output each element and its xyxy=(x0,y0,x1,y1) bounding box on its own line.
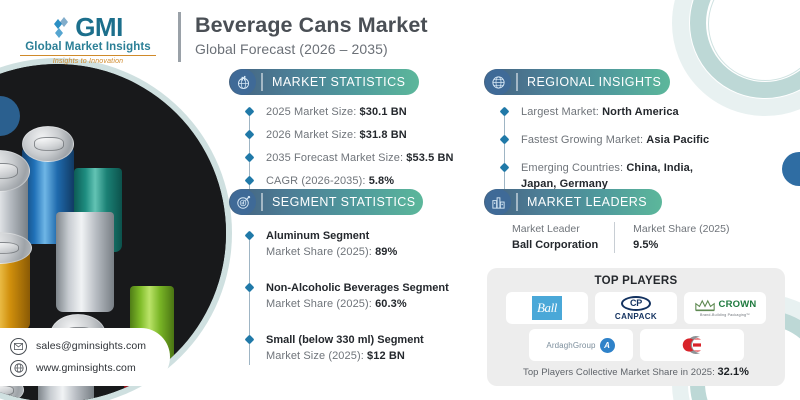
item-label: Market Share (2025): xyxy=(266,298,375,310)
banner-separator xyxy=(261,73,263,91)
ardagh-wordmark: ArdaghGroup xyxy=(546,341,595,350)
item-value: 60.3% xyxy=(375,298,407,310)
list-item: Largest Market: North America xyxy=(501,104,771,120)
logo-company: Global Market Insights xyxy=(8,41,168,53)
market-share-value: 9.5% xyxy=(633,237,729,253)
logo-tagline: Insights to Innovation xyxy=(8,58,168,65)
page-subtitle: Global Forecast (2026 – 2035) xyxy=(195,38,428,60)
top-players-row-1: Ball CP CANPACK CROWN Bra xyxy=(497,292,775,324)
ccl-logo-icon xyxy=(680,333,704,357)
page-title: Beverage Cans Market xyxy=(195,12,428,38)
contact-website-row[interactable]: www.gminsights.com xyxy=(10,360,170,377)
contact-website: www.gminsights.com xyxy=(36,362,136,374)
banner-label: MARKET LEADERS xyxy=(527,195,647,209)
list-segment-statistics: Aluminum Segment Market Share (2025): 89… xyxy=(246,228,486,371)
list-item: Emerging Countries: China, India, Japan,… xyxy=(501,160,771,192)
can-silver-mid xyxy=(56,212,114,312)
logo-ardagh-group[interactable]: ArdaghGroup A xyxy=(529,329,633,361)
item-label: 2035 Forecast Market Size: xyxy=(266,152,406,164)
gmi-logo[interactable]: GMI Global Market Insights Insights to I… xyxy=(8,14,168,65)
ball-logo-icon: Ball xyxy=(532,296,562,320)
envelope-icon xyxy=(10,338,27,355)
top-players-title: TOP PLAYERS xyxy=(497,275,775,287)
banner-separator xyxy=(516,73,518,91)
page-title-block: Beverage Cans Market Global Forecast (20… xyxy=(178,12,428,62)
banner-regional-insights: REGIONAL INSIGHTS xyxy=(484,69,670,95)
globe-chart-icon xyxy=(230,69,256,95)
logo-wordmark: GMI xyxy=(75,14,123,40)
item-heading: Small (below 330 ml) Segment xyxy=(266,332,486,348)
item-label: 2025 Market Size: xyxy=(266,106,360,118)
banner-label: MARKET STATISTICS xyxy=(272,75,405,89)
contact-email-row[interactable]: sales@gminsights.com xyxy=(10,338,170,355)
ardagh-logo-icon: A xyxy=(600,338,615,353)
decor-ring-top-right-mid xyxy=(690,0,800,98)
banner-segment-statistics: SEGMENT STATISTICS xyxy=(229,189,423,215)
decor-ring-top-right-inner xyxy=(708,0,800,81)
item-value: $53.5 BN xyxy=(406,152,453,164)
banner-market-leaders: MARKET LEADERS xyxy=(484,189,662,215)
factory-icon xyxy=(485,189,511,215)
item-value: $12 BN xyxy=(367,350,405,362)
list-regional-insights: Largest Market: North America Fastest Gr… xyxy=(501,104,771,199)
diamond-cluster-icon xyxy=(53,16,73,38)
item-label: Market Share (2025): xyxy=(266,246,375,258)
item-label: CAGR (2026-2035): xyxy=(266,175,369,187)
item-value: North America xyxy=(602,106,679,118)
list-item: Non-Alcoholic Beverages Segment Market S… xyxy=(246,280,486,312)
item-value: $30.1 BN xyxy=(360,106,407,118)
banner-separator xyxy=(261,193,263,211)
market-share-cell: Market Share (2025) 9.5% xyxy=(614,222,745,253)
list-item: Aluminum Segment Market Share (2025): 89… xyxy=(246,228,486,260)
list-item: 2035 Forecast Market Size: $53.5 BN xyxy=(246,150,476,166)
decor-ring-top-right-outer xyxy=(672,0,800,116)
market-leader-cell: Market Leader Ball Corporation xyxy=(512,222,614,253)
list-item: CAGR (2026-2035): 5.8% xyxy=(246,173,476,189)
logo-ccl[interactable] xyxy=(640,329,744,361)
banner-market-statistics: MARKET STATISTICS xyxy=(229,69,419,95)
canpack-logo-icon: CP xyxy=(621,296,651,311)
item-value: 5.8% xyxy=(369,175,394,187)
top-players-card: TOP PLAYERS Ball CP CANPACK xyxy=(487,268,785,386)
item-heading: Non-Alcoholic Beverages Segment xyxy=(266,280,486,296)
item-value: 89% xyxy=(375,246,397,258)
banner-separator xyxy=(516,193,518,211)
contact-card: sales@gminsights.com www.gminsights.com xyxy=(0,328,170,386)
logo-ball[interactable]: Ball xyxy=(506,292,588,324)
footer-label: Top Players Collective Market Share in 2… xyxy=(523,367,717,378)
footer-value: 32.1% xyxy=(718,366,749,378)
item-label: 2026 Market Size: xyxy=(266,129,360,141)
list-item: 2025 Market Size: $30.1 BN xyxy=(246,104,476,120)
logo-divider xyxy=(20,55,156,56)
list-market-statistics: 2025 Market Size: $30.1 BN 2026 Market S… xyxy=(246,104,476,196)
list-item: Small (below 330 ml) Segment Market Size… xyxy=(246,332,486,364)
globe-icon xyxy=(485,69,511,95)
market-share-caption: Market Share (2025) xyxy=(633,222,729,237)
item-value: Asia Pacific xyxy=(646,134,709,146)
target-chart-icon xyxy=(230,189,256,215)
globe-icon xyxy=(10,360,27,377)
banner-label: SEGMENT STATISTICS xyxy=(272,195,416,209)
top-players-row-2: ArdaghGroup A xyxy=(497,329,775,361)
market-leader-value: Ball Corporation xyxy=(512,237,598,253)
item-heading: Aluminum Segment xyxy=(266,228,486,244)
item-value: $31.8 BN xyxy=(360,129,407,141)
list-item: Fastest Growing Market: Asia Pacific xyxy=(501,132,771,148)
banner-label: REGIONAL INSIGHTS xyxy=(527,75,661,89)
list-item: 2026 Market Size: $31.8 BN xyxy=(246,127,476,143)
decor-dot-right xyxy=(782,152,800,186)
infographic-canvas: GMI Global Market Insights Insights to I… xyxy=(0,0,800,400)
crown-icon xyxy=(694,299,716,312)
crown-wordmark: CROWN xyxy=(719,300,757,310)
item-label: Fastest Growing Market: xyxy=(521,134,646,146)
item-label: Largest Market: xyxy=(521,106,602,118)
item-label: Emerging Countries: xyxy=(521,162,626,174)
contact-email: sales@gminsights.com xyxy=(36,340,146,352)
can-top-blue xyxy=(22,126,74,162)
market-leader-caption: Market Leader xyxy=(512,222,598,237)
top-players-footer: Top Players Collective Market Share in 2… xyxy=(497,366,775,378)
crown-tagline: Brand-Building Packaging™ xyxy=(700,314,750,318)
logo-crown[interactable]: CROWN Brand-Building Packaging™ xyxy=(684,292,766,324)
item-label: Market Size (2025): xyxy=(266,350,367,362)
logo-canpack[interactable]: CP CANPACK xyxy=(595,292,677,324)
market-leaders-stats: Market Leader Ball Corporation Market Sh… xyxy=(512,222,745,253)
canpack-wordmark: CANPACK xyxy=(615,313,657,321)
